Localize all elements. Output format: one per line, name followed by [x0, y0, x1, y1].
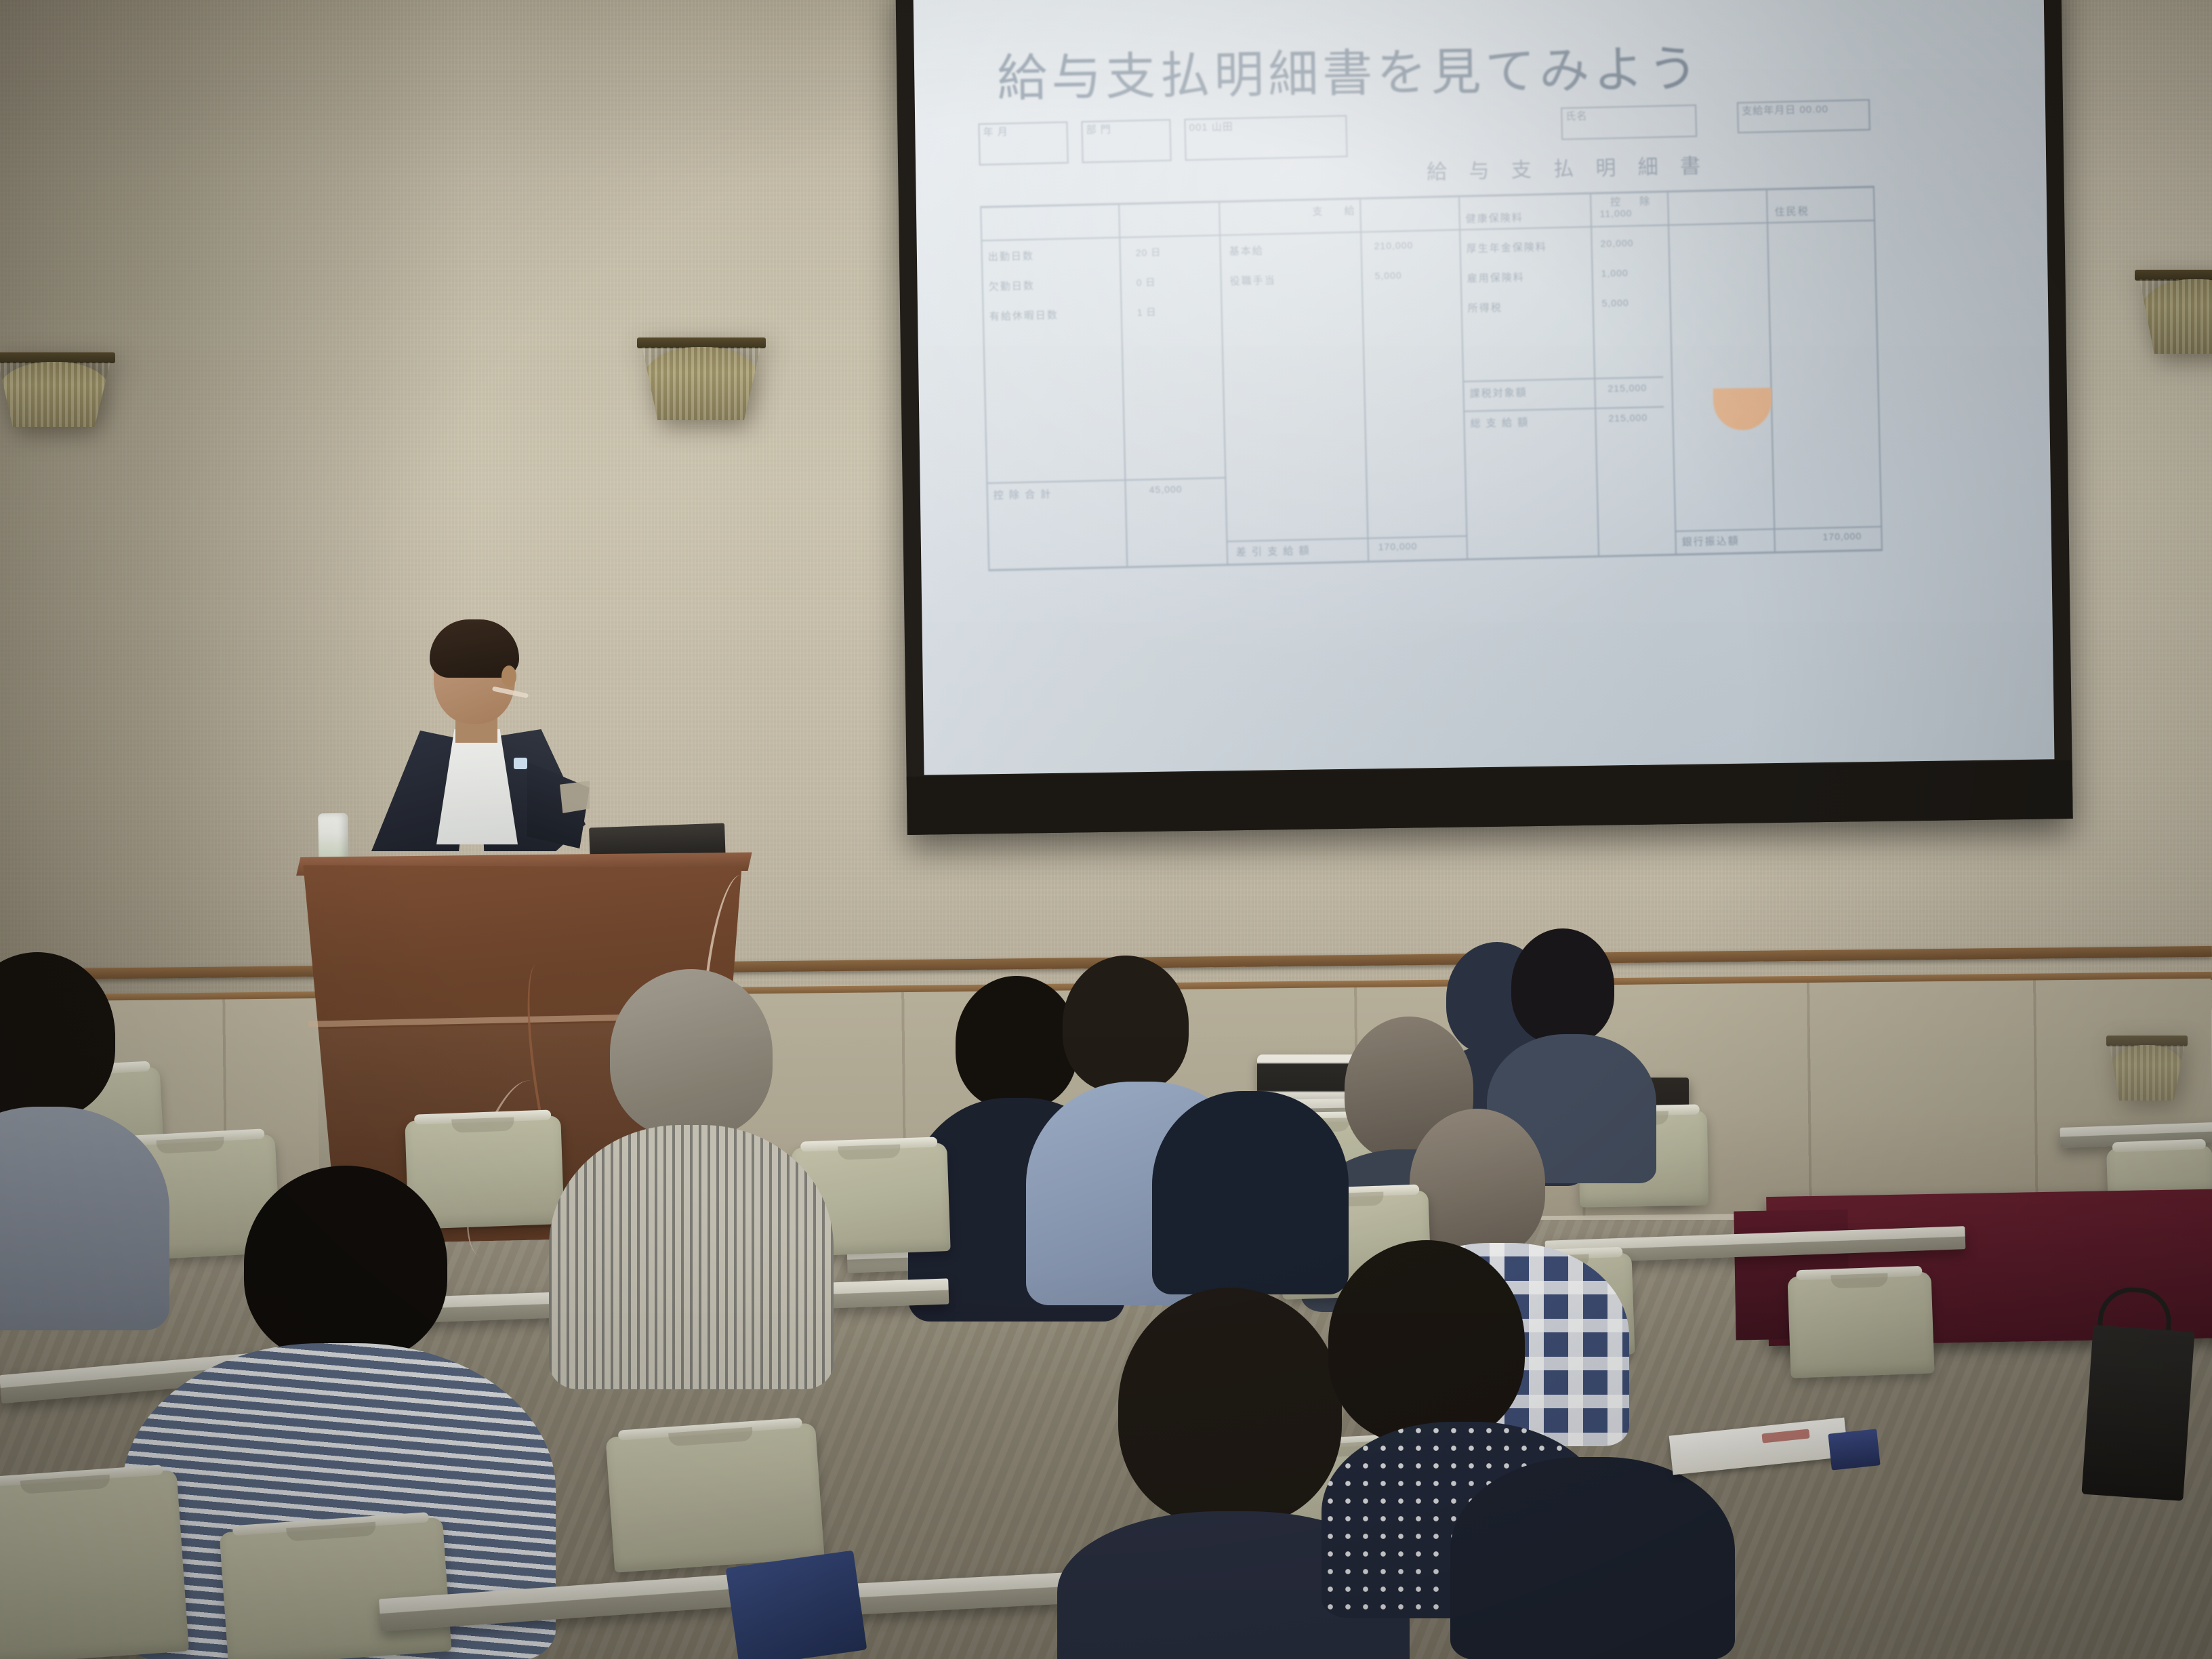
payslip-row-label: 雇用保険料 [1467, 270, 1525, 285]
wall-sconce-icon [637, 337, 766, 420]
payslip-row-label: 健康保険料 [1466, 210, 1523, 226]
person-head [1063, 956, 1189, 1092]
person-torso [549, 1125, 834, 1389]
payslip-total-label: 差 引 支 給 額 [1236, 543, 1311, 558]
payslip-section-header: 控 除 [1610, 193, 1658, 209]
person-torso [1152, 1091, 1349, 1294]
payslip-document: 年 月 部 門 001 山田 氏名 支給年月日 00.00 給 与 支 払 明 … [978, 103, 1883, 571]
person-head [244, 1166, 447, 1362]
payslip-subtotal-label: 課税対象額 [1469, 385, 1527, 401]
payslip-header-box: 年 月 [978, 121, 1068, 165]
person-head [1118, 1288, 1342, 1525]
payslip-total-value: 170,000 [1822, 531, 1862, 542]
slide-title: 給与支払明細書を見てみよう [996, 28, 1702, 110]
payslip-row-value: 20 日 [1136, 245, 1162, 260]
payslip-row-label: 基本給 [1229, 243, 1264, 258]
payslip-subtotal-label: 控 除 合 計 [994, 487, 1052, 502]
person-head [1328, 1240, 1525, 1443]
payslip-row-value: 5,000 [1374, 270, 1401, 281]
person-torso [1450, 1457, 1735, 1659]
wall-sconce-icon [0, 352, 115, 427]
payslip-subtotal-value: 45,000 [1149, 483, 1183, 495]
payslip-row-value: 210,000 [1374, 240, 1413, 251]
payslip-row-label: 欠勤日数 [989, 278, 1035, 293]
payslip-row-label: 出勤日数 [988, 248, 1034, 264]
blue-folder [726, 1550, 867, 1659]
projection-screen: 給与支払明細書を見てみよう 年 月 部 門 001 山田 氏名 支給年月日 00… [895, 0, 2072, 835]
payslip-subtotal-label: 総 支 給 額 [1470, 415, 1529, 430]
payslip-header-box: 部 門 [1081, 119, 1171, 163]
wall-sconce-icon [2106, 1036, 2188, 1101]
payslip-row-value: 5,000 [1601, 297, 1629, 308]
payslip-row-value: 11,000 [1599, 207, 1632, 219]
payslip-subtotal-value: 215,000 [1608, 412, 1647, 424]
person-head [956, 976, 1078, 1109]
lapel-pin-icon [514, 758, 527, 769]
payslip-row-label: 役職手当 [1230, 272, 1276, 288]
payslip-total-label: 銀行振込額 [1681, 533, 1739, 549]
chair [1787, 1271, 1934, 1378]
payslip-row-value: 20,000 [1600, 237, 1633, 249]
person-head [1511, 928, 1614, 1044]
screen-surface: 給与支払明細書を見てみよう 年 月 部 門 001 山田 氏名 支給年月日 00… [914, 0, 2055, 775]
payslip-total-value: 170,000 [1378, 541, 1418, 552]
presenter [366, 617, 590, 881]
chair [219, 1517, 451, 1659]
payslip-row-label: 厚生年金保険料 [1467, 239, 1547, 255]
payslip-row-label: 有給休暇日数 [989, 308, 1059, 323]
payslip-row-value: 1,000 [1601, 267, 1628, 279]
person-head [610, 969, 773, 1137]
lecture-hall-photo: 給与支払明細書を見てみよう 年 月 部 門 001 山田 氏名 支給年月日 00… [0, 0, 2212, 1659]
payslip-row-value: 0 日 [1136, 275, 1156, 289]
payslip-row-value: 1 日 [1137, 305, 1157, 319]
payslip-paydate-box: 支給年月日 00.00 [1737, 99, 1870, 133]
payslip-row-label: 所得税 [1468, 300, 1502, 315]
payslip-header-box: 001 山田 [1184, 115, 1347, 161]
wall-sconce-icon [2135, 270, 2212, 354]
handout-blue-card [1828, 1429, 1880, 1470]
presenter-arm-gap [560, 781, 590, 813]
chair [605, 1422, 824, 1572]
payslip-row-label: 住民税 [1774, 203, 1809, 218]
payslip-name-box: 氏名 [1561, 104, 1697, 140]
tote-bag [2081, 1325, 2194, 1501]
person-head [1410, 1109, 1545, 1258]
payslip-subtotal-value: 215,000 [1607, 382, 1647, 394]
payslip-section-header: 支 給 [1312, 203, 1364, 218]
payslip-heading: 給 与 支 払 明 細 書 [1427, 149, 1709, 185]
chair [0, 1470, 189, 1659]
presenter-ear [501, 665, 516, 687]
